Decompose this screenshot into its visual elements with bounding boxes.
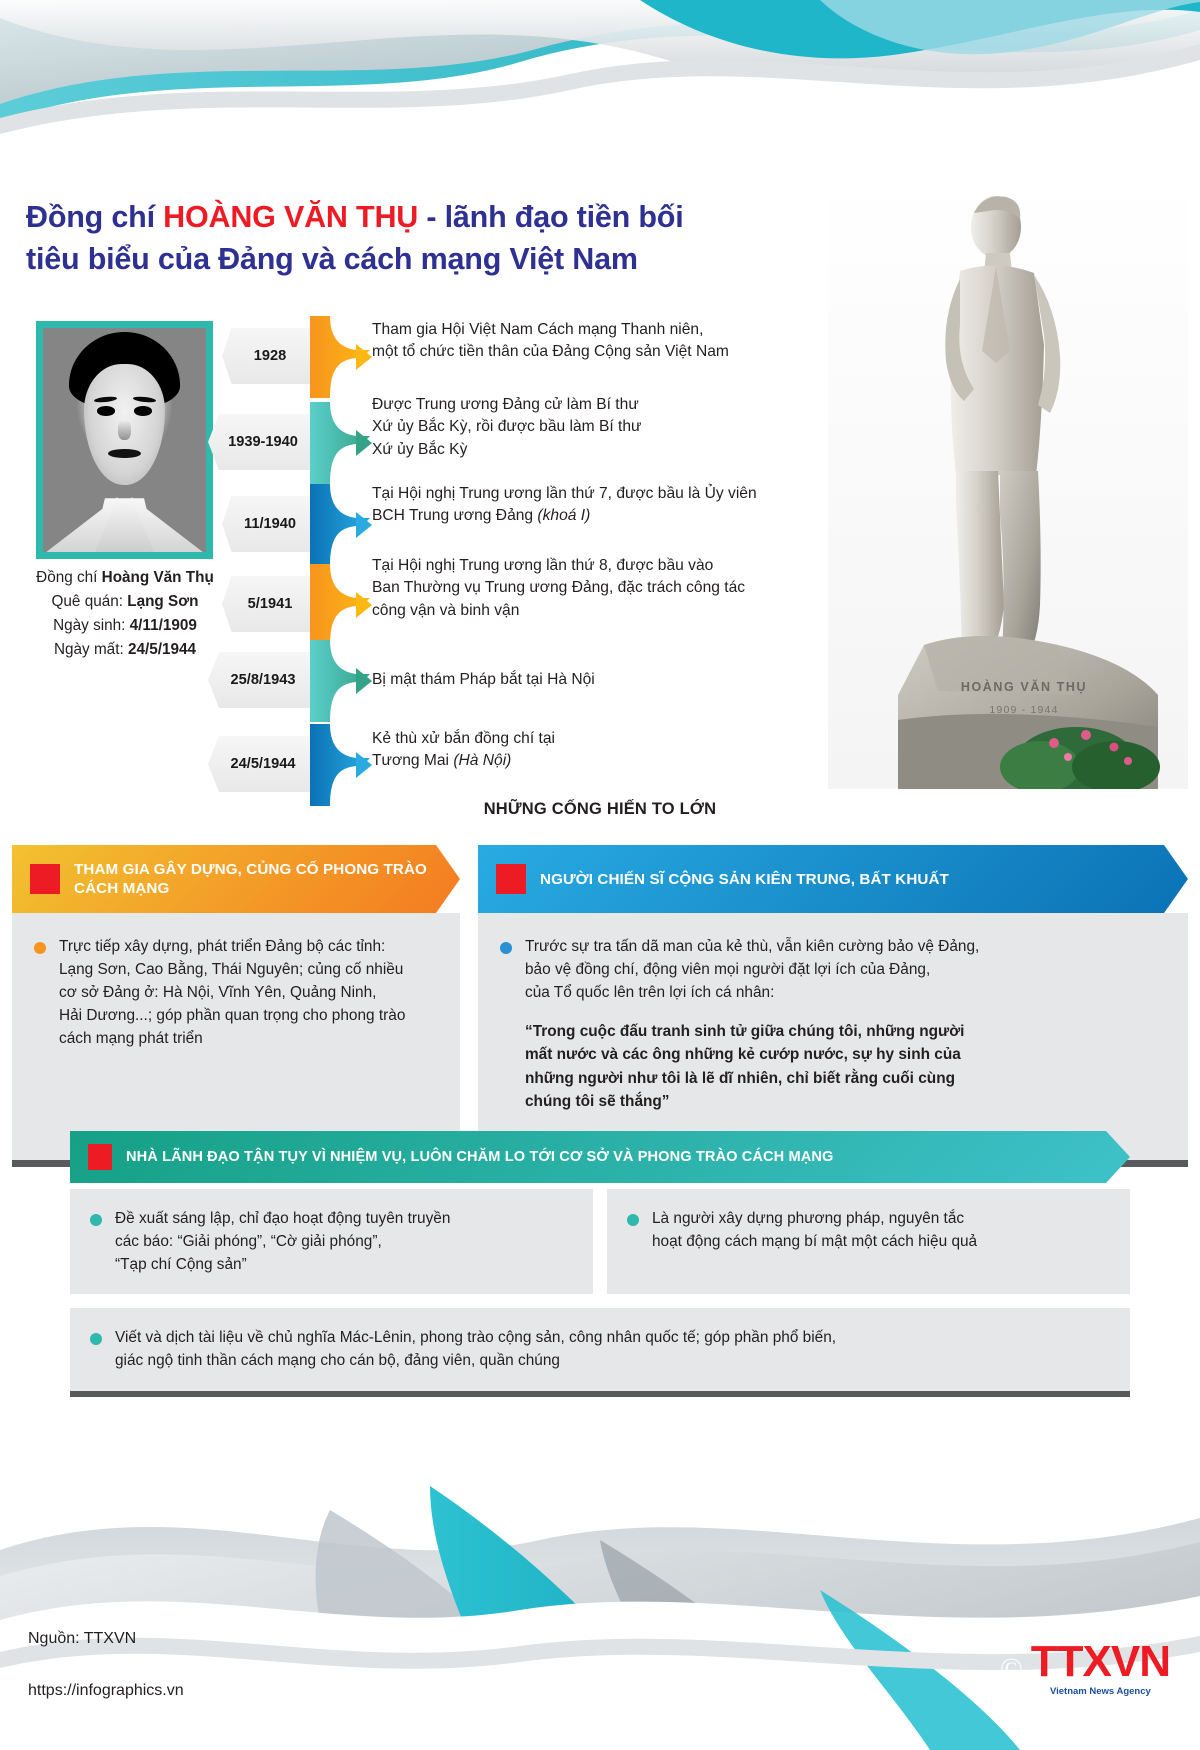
- portrait-nose: [118, 420, 131, 440]
- logo-subtitle: Vietnam News Agency: [1031, 1686, 1170, 1697]
- page-title: Đồng chí HOÀNG VĂN THỤ - lãnh đạo tiền b…: [26, 196, 786, 280]
- statue-inscription-years: 1909 - 1944: [989, 704, 1058, 716]
- caption-birth-line: Ngày sinh: 4/11/1909: [0, 614, 250, 638]
- list-item: Trực tiếp xây dựng, phát triển Đảng bộ c…: [30, 935, 440, 1051]
- hometown-value: Lạng Sơn: [127, 593, 198, 610]
- caption-name: Hoàng Văn Thụ: [102, 569, 214, 586]
- section2-bullet-text: Trước sự tra tấn dã man của kẻ thù, vẫn …: [525, 935, 979, 1004]
- timeline-arrow-icon: [308, 314, 372, 400]
- section1-body: Trực tiếp xây dựng, phát triển Đảng bộ c…: [12, 913, 460, 1167]
- caption-death-line: Ngày mất: 24/5/1944: [0, 638, 250, 662]
- timeline-arrow-icon: [308, 722, 372, 808]
- timeline-text: Tại Hội nghị Trung ương lần thứ 7, được …: [372, 483, 757, 528]
- caption-prefix: Đồng chí: [36, 569, 101, 586]
- timeline-year: 1928: [222, 328, 318, 384]
- hometown-label: Quê quán:: [52, 593, 128, 610]
- timeline-text: Tại Hội nghị Trung ương lần thứ 8, được …: [372, 555, 745, 622]
- section3-left-text: Đề xuất sáng lập, chỉ đạo hoạt động tuyê…: [115, 1207, 450, 1276]
- bullet-dot-icon: [627, 1214, 639, 1226]
- timeline-arrow-icon: [308, 482, 372, 568]
- bullet-dot-icon: [34, 942, 46, 954]
- timeline-arrow-icon: [308, 638, 372, 724]
- section3-column-right: Là người xây dựng phương pháp, nguyên tắ…: [607, 1189, 1130, 1294]
- timeline-text-italic: (khoá I): [537, 507, 590, 524]
- birth-label: Ngày sinh:: [53, 617, 130, 634]
- death-label: Ngày mất:: [54, 641, 128, 658]
- section-steadfast-communist: NGƯỜI CHIẾN SĨ CỘNG SẢN KIÊN TRUNG, BẤT …: [478, 845, 1188, 1167]
- portrait-eye-right: [134, 406, 152, 415]
- timeline-text-italic: (Hà Nội): [453, 752, 511, 769]
- statue-inscription-name: HOÀNG VĂN THỤ: [961, 679, 1087, 694]
- section-dedicated-leader: NHÀ LÃNH ĐẠO TẬN TỤY VÌ NHIỆM VỤ, LUÔN C…: [70, 1131, 1130, 1397]
- logo-text: TTXVN: [1031, 1640, 1170, 1684]
- red-square-icon: [30, 864, 60, 894]
- caption-hometown-line: Quê quán: Lạng Sơn: [0, 590, 250, 614]
- list-item: Viết và dịch tài liệu về chủ nghĩa Mác-L…: [86, 1326, 1114, 1372]
- caption-name-line: Đồng chí Hoàng Văn Thụ: [0, 566, 250, 590]
- portrait-caption: Đồng chí Hoàng Văn Thụ Quê quán: Lạng Sơ…: [0, 566, 250, 661]
- timeline-year: 5/1941: [222, 576, 318, 632]
- list-item: Là người xây dựng phương pháp, nguyên tắ…: [623, 1207, 1114, 1253]
- section1-banner: THAM GIA GÂY DỰNG, CỦNG CỐ PHONG TRÀO CÁ…: [12, 845, 460, 913]
- section3-full-row: Viết và dịch tài liệu về chủ nghĩa Mác-L…: [70, 1308, 1130, 1396]
- timeline-year: 24/5/1944: [208, 736, 318, 792]
- title-line2: tiêu biểu của Đảng và cách mạng Việt Nam: [26, 242, 638, 276]
- timeline-text: Kẻ thù xử bắn đồng chí tại Tương Mai (Hà…: [372, 728, 555, 773]
- source-label: Nguồn: TTXVN: [28, 1630, 136, 1648]
- timeline-text: Được Trung ương Đảng cử làm Bí thư Xứ ủy…: [372, 394, 642, 461]
- portrait-frame: [36, 321, 213, 559]
- title-line1-pre: Đồng chí: [26, 200, 163, 234]
- section1-bullet-text: Trực tiếp xây dựng, phát triển Đảng bộ c…: [59, 935, 405, 1051]
- timeline-text: Tham gia Hội Việt Nam Cách mạng Thanh ni…: [372, 319, 729, 364]
- bullet-dot-icon: [90, 1333, 102, 1345]
- list-item: Trước sự tra tấn dã man của kẻ thù, vẫn …: [496, 935, 1168, 1113]
- section1-title: THAM GIA GÂY DỰNG, CỦNG CỐ PHONG TRÀO CÁ…: [74, 860, 427, 898]
- portrait-eye-left: [97, 406, 115, 415]
- timeline-arrow-icon: [308, 400, 372, 486]
- section2-title: NGƯỜI CHIẾN SĨ CỘNG SẢN KIÊN TRUNG, BẤT …: [540, 870, 949, 889]
- portrait-mouth: [108, 449, 141, 458]
- top-decoration-band: [0, 0, 1200, 190]
- bullet-dot-icon: [90, 1214, 102, 1226]
- section3-title: NHÀ LÃNH ĐẠO TẬN TỤY VÌ NHIỆM VỤ, LUÔN C…: [126, 1148, 833, 1166]
- portrait-photo: [43, 328, 206, 552]
- section3-banner: NHÀ LÃNH ĐẠO TẬN TỤY VÌ NHIỆM VỤ, LUÔN C…: [70, 1131, 1130, 1183]
- section-participation: THAM GIA GÂY DỰNG, CỦNG CỐ PHONG TRÀO CÁ…: [12, 845, 460, 1167]
- timeline-year: 1939-1940: [208, 414, 318, 470]
- birth-value: 4/11/1909: [130, 617, 197, 634]
- red-square-icon: [496, 864, 526, 894]
- timeline-year: 11/1940: [222, 496, 318, 552]
- list-item: Đề xuất sáng lập, chỉ đạo hoạt động tuyê…: [86, 1207, 577, 1276]
- section3-full-text: Viết và dịch tài liệu về chủ nghĩa Mác-L…: [115, 1326, 836, 1372]
- section2-body: Trước sự tra tấn dã man của kẻ thù, vẫn …: [478, 913, 1188, 1167]
- section3-column-left: Đề xuất sáng lập, chỉ đạo hoạt động tuyê…: [70, 1189, 593, 1294]
- timeline-year: 25/8/1943: [208, 652, 318, 708]
- red-square-icon: [88, 1144, 112, 1170]
- section3-columns: Đề xuất sáng lập, chỉ đạo hoạt động tuyê…: [70, 1189, 1130, 1294]
- section3-right-text: Là người xây dựng phương pháp, nguyên tắ…: [652, 1207, 977, 1253]
- section2-banner: NGƯỜI CHIẾN SĨ CỘNG SẢN KIÊN TRUNG, BẤT …: [478, 845, 1188, 913]
- section2-quote: “Trong cuộc đấu tranh sinh tử giữa chúng…: [525, 1020, 979, 1112]
- ttxvn-logo: © TTXVN Vietnam News Agency: [1000, 1640, 1170, 1697]
- statue-photo: HOÀNG VĂN THỤ 1909 - 1944: [828, 175, 1188, 795]
- title-line1-red: HOÀNG VĂN THỤ: [163, 200, 418, 234]
- timeline-arrow-icon: [308, 562, 372, 648]
- death-value: 24/5/1944: [128, 641, 196, 658]
- contributions-heading: NHỮNG CỐNG HIẾN TO LỚN: [0, 800, 1200, 819]
- title-line1-post: - lãnh đạo tiền bối: [418, 200, 683, 234]
- website-url[interactable]: https://infographics.vn: [28, 1682, 184, 1700]
- copyright-icon: ©: [1000, 1652, 1023, 1686]
- bullet-dot-icon: [500, 942, 512, 954]
- timeline-text: Bị mật thám Pháp bắt tại Hà Nội: [372, 669, 595, 691]
